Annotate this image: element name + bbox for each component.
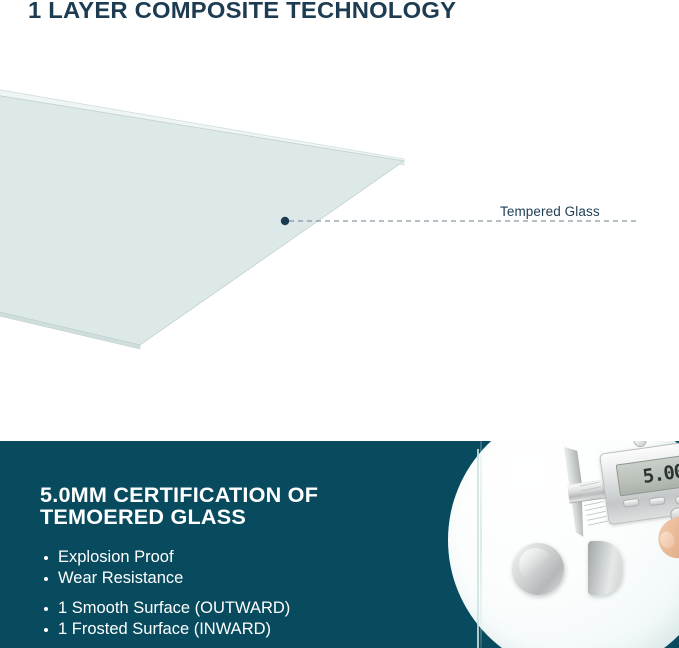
certification-panel: 5.0MM CERTIFICATION OF TEMOERED GLASS Ex… (0, 441, 679, 648)
glass-panel-edge-highlight (480, 441, 482, 648)
page-title: 1 LAYER COMPOSITE TECHNOLOGY (28, 0, 456, 24)
glass-panel-edge (477, 449, 479, 648)
caliper-lcd-screen: 5.00 (616, 455, 679, 497)
caliper-button-unit (675, 495, 679, 505)
list-item: Explosion Proof (40, 547, 290, 568)
list-item: 1 Smooth Surface (OUTWARD) (40, 598, 290, 619)
fingernail (658, 530, 677, 550)
top-section: 1 LAYER COMPOSITE TECHNOLOGY Tempered Gl… (0, 0, 679, 441)
feature-list: Explosion Proof Wear Resistance 1 Smooth… (40, 547, 290, 640)
list-item: 1 Frosted Surface (INWARD) (40, 619, 290, 640)
callout-label-tempered-glass: Tempered Glass (500, 204, 600, 219)
caliper-slider-body: Ⓐ 5.00 (599, 441, 679, 525)
list-item: Wear Resistance (40, 568, 290, 589)
panel-heading: 5.0MM CERTIFICATION OF TEMOERED GLASS (40, 485, 318, 529)
caliper-reading-value: 5.00 (641, 458, 679, 490)
caliper-button-zero (623, 498, 640, 508)
caliper-measuring-glass-photo: Ⓐ 5.00 (430, 441, 679, 648)
standoff-disc-front (512, 543, 564, 595)
caliper-button-onoff (649, 496, 666, 506)
callout-dot-marker (281, 217, 289, 225)
